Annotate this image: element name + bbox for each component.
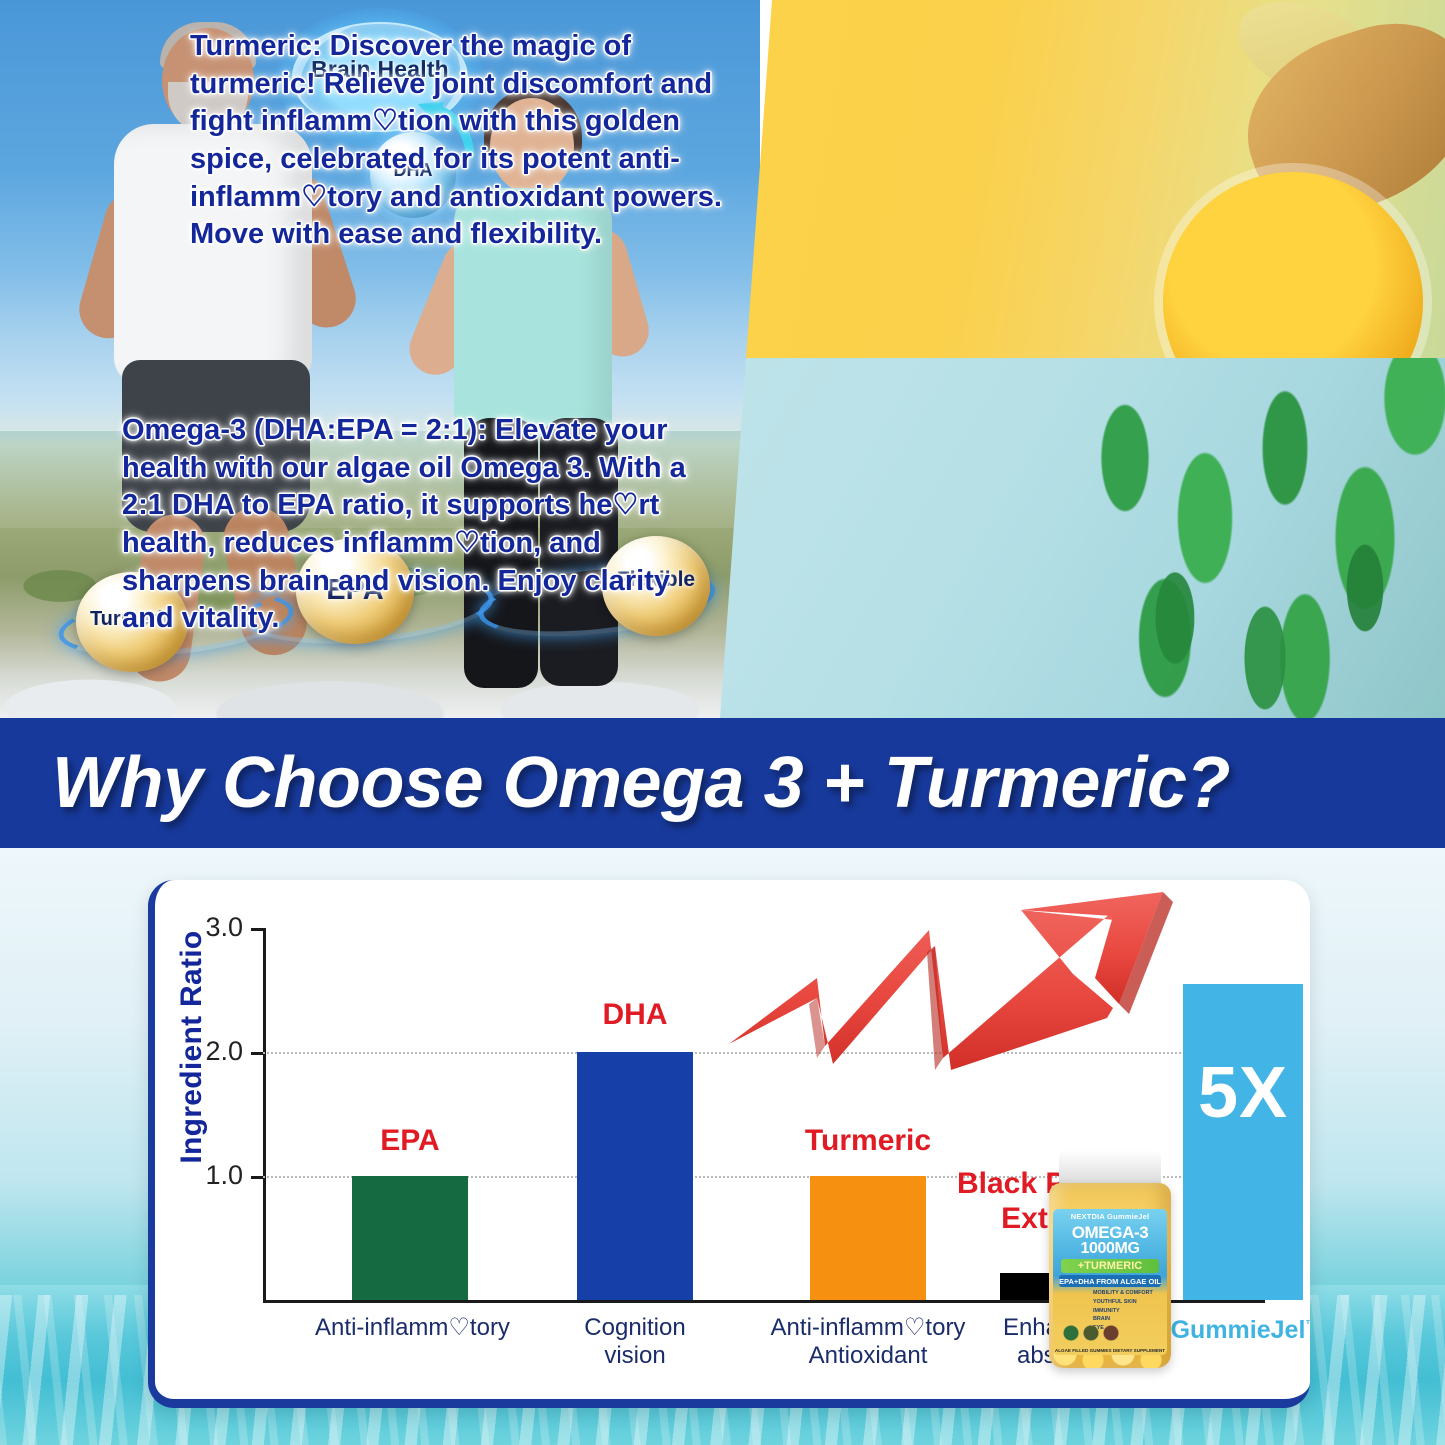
bottle-label: NEXTDIA GummieJel OMEGA-3 1000MG +TURMER… <box>1053 1209 1167 1355</box>
infographic-root: Brain Health DHA Turmeric EPA Flexible <box>0 0 1445 1445</box>
y-axis-line <box>263 928 266 1300</box>
bottle-source: EPA+DHA FROM ALGAE OIL <box>1059 1275 1161 1287</box>
chart-card: Ingredient Ratio 3.0 2.0 1.0 <box>148 880 1310 1408</box>
bar-chart: Ingredient Ratio 3.0 2.0 1.0 <box>155 880 1310 1408</box>
omega-panel <box>680 358 1445 718</box>
bar-label-dha: DHA <box>550 998 720 1032</box>
y-tick-label-3: 3.0 <box>173 912 243 943</box>
gummiejel-wordmark: GummieJel <box>1171 1316 1306 1344</box>
bar-label-turmeric: Turmeric <box>768 1124 968 1158</box>
bottle-body: NEXTDIA GummieJel OMEGA-3 1000MG +TURMER… <box>1049 1183 1171 1368</box>
bar-dha <box>577 1052 693 1300</box>
x-axis-label-2-line2: vision <box>604 1342 665 1369</box>
x-axis-label-2-line1: Cognition <box>584 1314 685 1341</box>
headline-band: Why Choose Omega 3 + Turmeric? <box>0 718 1445 848</box>
bottle-dose: 1000MG <box>1053 1240 1167 1258</box>
trademark-symbol: ™ <box>1305 1318 1310 1332</box>
info-panels <box>680 0 1445 718</box>
turmeric-panel-text: Turmeric: Discover the magic of turmeric… <box>190 28 730 254</box>
bar-label-epa: EPA <box>325 1124 495 1158</box>
y-tick-label-2: 2.0 <box>173 1036 243 1067</box>
x-axis-label-3-line1: Anti-inflamm♡tory <box>771 1314 966 1341</box>
bar-epa <box>352 1176 468 1300</box>
algae-image-secondary <box>1115 418 1445 718</box>
page-title: Why Choose Omega 3 + Turmeric? <box>52 742 1230 824</box>
hero-section: Brain Health DHA Turmeric EPA Flexible <box>0 0 1445 718</box>
bar-turmeric <box>810 1176 926 1300</box>
y-tick-3 <box>251 928 263 931</box>
x-axis-label-1: Anti-inflamm♡tory <box>290 1314 535 1342</box>
y-tick-2 <box>251 1052 263 1055</box>
bottle-seal-icons <box>1059 1325 1163 1341</box>
x-axis-label-3-line2: Antioxidant <box>809 1342 928 1369</box>
x-axis-label-3: Anti-inflamm♡tory Antioxidant <box>743 1314 993 1369</box>
x-axis-label-2: Cognition vision <box>540 1314 730 1369</box>
chart-section: Ingredient Ratio 3.0 2.0 1.0 <box>0 848 1445 1445</box>
bottle-cap <box>1059 1150 1161 1186</box>
product-bottle: NEXTDIA GummieJel OMEGA-3 1000MG +TURMER… <box>1041 1150 1179 1368</box>
bottle-footer: ALGAE FILLED GUMMIES DIETARY SUPPLEMENT <box>1053 1348 1167 1353</box>
turmeric-panel <box>680 0 1445 358</box>
bottle-brand: NEXTDIA GummieJel <box>1053 1212 1167 1221</box>
y-tick-label-1: 1.0 <box>173 1160 243 1191</box>
bottle-plus-turmeric: +TURMERIC <box>1061 1259 1159 1273</box>
growth-arrow-icon <box>721 886 1221 1086</box>
omega-panel-text: Omega-3 (DHA:EPA = 2:1): Elevate your he… <box>122 412 722 638</box>
y-tick-1 <box>251 1176 263 1179</box>
